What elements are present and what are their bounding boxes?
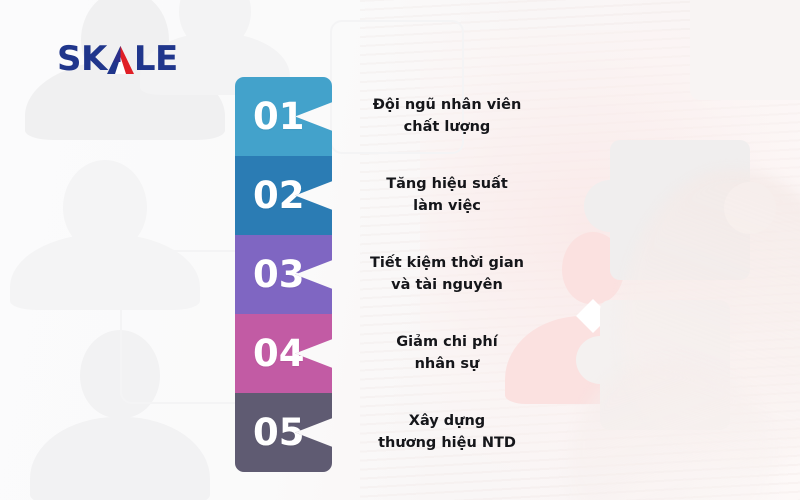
step-label-row-02: Tăng hiệu suất làm việc: [332, 156, 562, 235]
step-label-01: Đội ngũ nhân viên chất lượng: [373, 95, 522, 137]
step-number-05: 05: [253, 414, 305, 451]
infographic-canvas: SK LE 01 02 03: [0, 0, 800, 500]
step-label-row-03: Tiết kiệm thời gian và tài nguyên: [332, 235, 562, 314]
step-label-column: Đội ngũ nhân viên chất lượng Tăng hiệu s…: [332, 77, 562, 472]
step-row-01: 01: [235, 77, 332, 156]
puzzle-knob: [584, 180, 636, 232]
step-chip-04[interactable]: 04: [235, 314, 332, 393]
logo-text-before: SK: [57, 39, 107, 79]
step-row-02: 02: [235, 156, 332, 235]
skale-logo: SK LE: [57, 38, 178, 80]
logo-wordmark: SK LE: [57, 42, 178, 76]
step-label-04: Giảm chi phí nhân sự: [396, 332, 497, 374]
step-label-row-05: Xây dựng thương hiệu NTD: [332, 393, 562, 472]
step-number-04: 04: [253, 335, 305, 372]
step-chip-03[interactable]: 03: [235, 235, 332, 314]
step-row-03: 03: [235, 235, 332, 314]
step-label-03: Tiết kiệm thời gian và tài nguyên: [370, 253, 524, 295]
step-label-02: Tăng hiệu suất làm việc: [386, 174, 508, 216]
step-number-03: 03: [253, 256, 305, 293]
puzzle-piece-top-right: [690, 0, 800, 100]
step-number-column: 01 02 03 04 05: [235, 77, 332, 472]
step-number-01: 01: [253, 98, 305, 135]
silhouette-body: [30, 417, 210, 500]
logo-a-triangle-icon: [107, 44, 134, 74]
step-row-05: 05: [235, 393, 332, 472]
step-chip-02[interactable]: 02: [235, 156, 332, 235]
logo-text-after: LE: [134, 39, 178, 79]
step-label-row-04: Giảm chi phí nhân sự: [332, 314, 562, 393]
step-row-04: 04: [235, 314, 332, 393]
step-chip-05[interactable]: 05: [235, 393, 332, 472]
step-number-02: 02: [253, 177, 305, 214]
step-label-row-01: Đội ngũ nhân viên chất lượng: [332, 77, 562, 156]
step-chip-01[interactable]: 01: [235, 77, 332, 156]
step-label-05: Xây dựng thương hiệu NTD: [378, 411, 516, 453]
